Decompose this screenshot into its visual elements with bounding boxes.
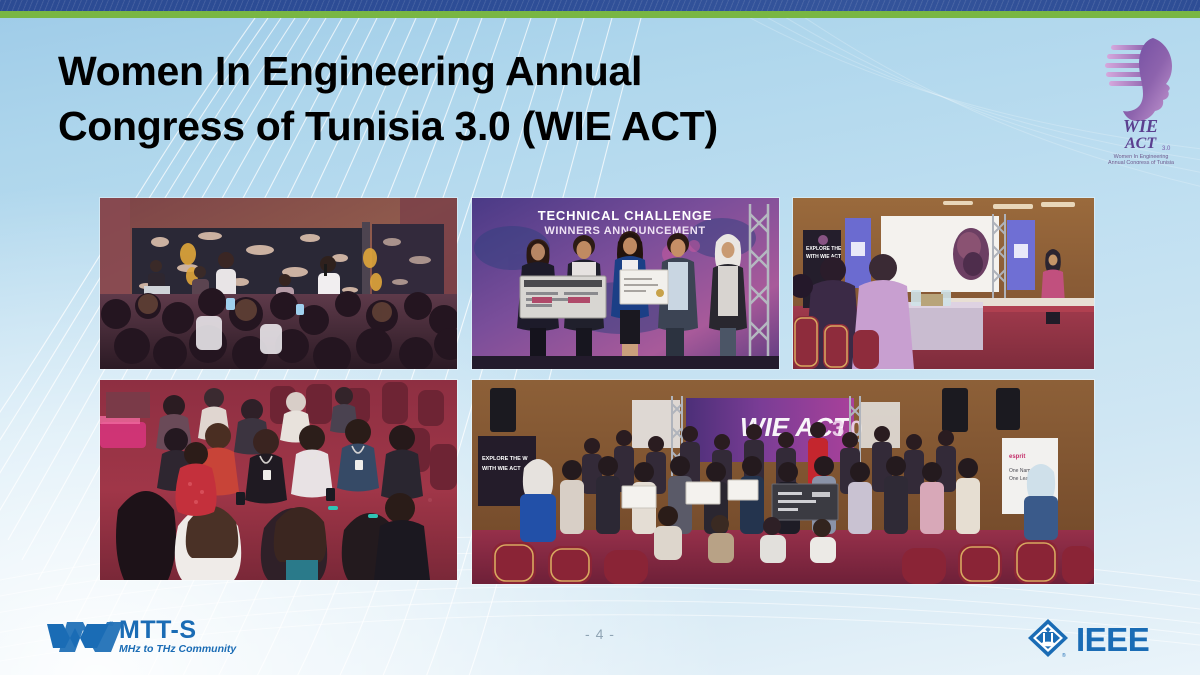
ieee-wordmark: IEEE <box>1076 621 1149 658</box>
photo-screen-title: TECHNICAL CHALLENGE <box>538 208 713 223</box>
page-title: Women In Engineering Annual Congress of … <box>58 44 938 153</box>
ieee-registered-mark: ® <box>1062 652 1066 659</box>
top-band-texture <box>0 0 1200 11</box>
group-workshop-photo <box>100 380 457 580</box>
mtts-logo: MTT-S MHz to THz Community ® <box>45 614 250 660</box>
presentation-slide: Women In Engineering Annual Congress of … <box>0 0 1200 675</box>
page-title-line-1: Women In Engineering Annual <box>58 44 938 99</box>
wie-logo-acronym-wie: WIE <box>1123 116 1158 136</box>
mtts-registered-mark: ® <box>109 621 114 628</box>
mtts-wordmark: MTT-S <box>119 616 197 644</box>
group-sponsor-line-2: One Lea <box>1009 476 1028 482</box>
hall-banner-line-1: EXPLORE THE <box>806 246 842 252</box>
page-title-line-2: Congress of Tunisia 3.0 (WIE ACT) <box>58 99 938 154</box>
opening-ceremony-stage-photo <box>100 198 457 369</box>
prize-cheque <box>520 276 606 318</box>
ieee-diamond-icon: ® <box>1028 619 1068 659</box>
wie-logo-acronym-act: ACT <box>1124 135 1157 152</box>
closing-group-photo: WIE ACT 3.0 EXPLORE THE W WITH WIE ACT e… <box>472 380 1094 584</box>
group-sponsor-name: esprit <box>1009 454 1025 460</box>
technical-challenge-winners-photo: TECHNICAL CHALLENGE WINNERS ANNOUNCEMENT <box>472 198 779 369</box>
wie-logo-version: 3.0 <box>1162 146 1171 152</box>
group-rollup-line-1: EXPLORE THE W <box>482 456 528 462</box>
mtts-tagline: MHz to THz Community <box>119 643 237 655</box>
page-number: - 4 - <box>560 626 640 642</box>
certificate <box>620 270 668 304</box>
wie-act-logo: WIE ACT 3.0 Women In Engineering Annual … <box>1093 26 1189 164</box>
group-rollup-line-2: WITH WIE ACT <box>482 466 521 472</box>
top-green-rule <box>0 11 1200 18</box>
ieee-logo: ® IEEE <box>1026 617 1166 659</box>
conference-hall-session-photo: EXPLORE THE WITH WIE ACT <box>793 198 1094 369</box>
top-blue-band <box>0 0 1200 11</box>
wie-logo-face-profile <box>1123 38 1172 121</box>
wie-logo-subtitle-line-2: Annual Congress of Tunisia <box>1108 160 1174 164</box>
